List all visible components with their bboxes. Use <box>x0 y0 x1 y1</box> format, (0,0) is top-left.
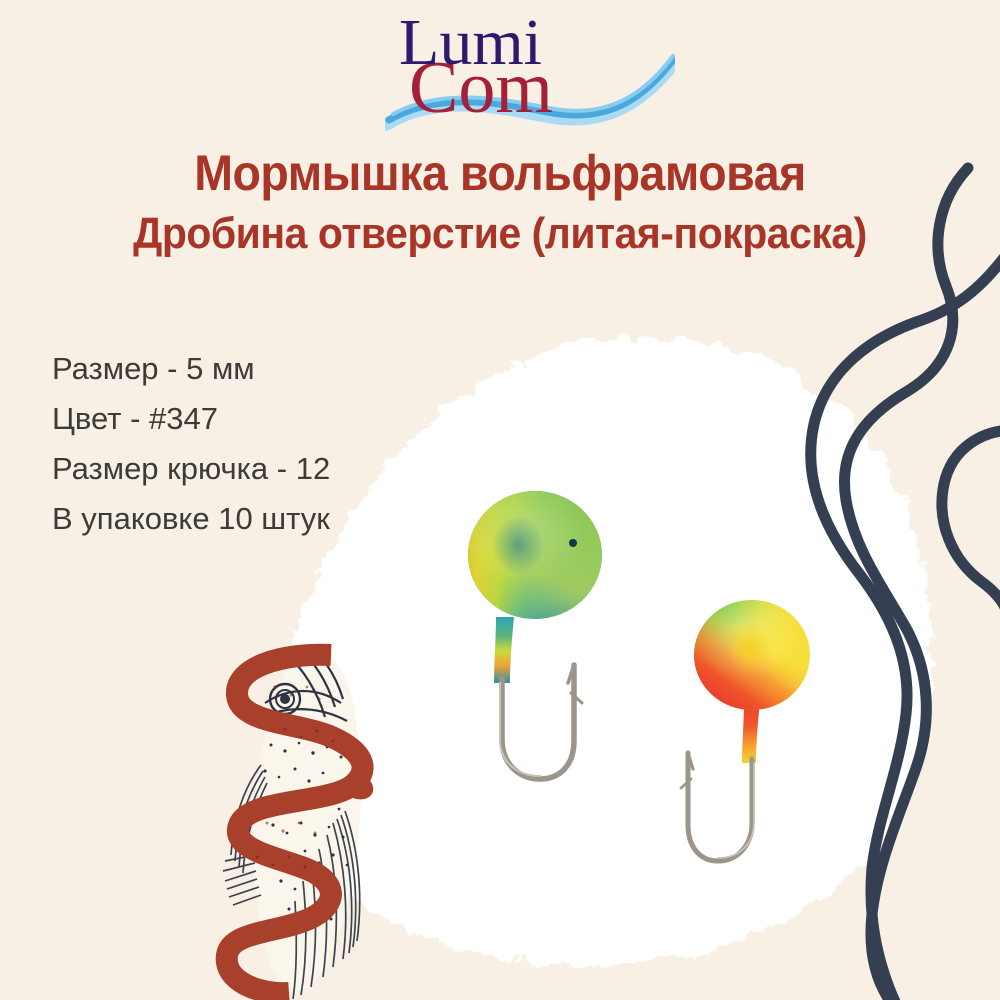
tungsten-jig-large <box>440 487 630 787</box>
fish-illustration <box>205 625 435 1000</box>
title-block: Мормышка вольфрамовая Дробина отверстие … <box>0 144 1000 260</box>
page-title: Мормышка вольфрамовая <box>35 144 965 202</box>
specifications-list: Размер - 5 мм Цвет - #347 Размер крючка … <box>52 344 482 544</box>
fish-hook <box>502 665 574 779</box>
spec-hook-size: Размер крючка - 12 <box>52 444 482 494</box>
page-subtitle: Дробина отверстие (литая-покраска) <box>35 208 965 260</box>
spec-color: Цвет - #347 <box>52 394 482 444</box>
spec-pack-quantity: В упаковке 10 штук <box>52 494 482 544</box>
spec-size: Размер - 5 мм <box>52 344 482 394</box>
brand-logo: Com Lumi <box>385 2 675 134</box>
tungsten-ball <box>694 600 810 710</box>
jig-hole <box>569 539 577 547</box>
svg-text:Lumi: Lumi <box>399 6 542 79</box>
tungsten-ball <box>468 491 602 619</box>
fish-hook <box>688 753 752 861</box>
tungsten-jig-small <box>672 597 832 887</box>
poster-canvas: Com Lumi Мормышка вольфрамовая Дробина о… <box>0 0 1000 1000</box>
